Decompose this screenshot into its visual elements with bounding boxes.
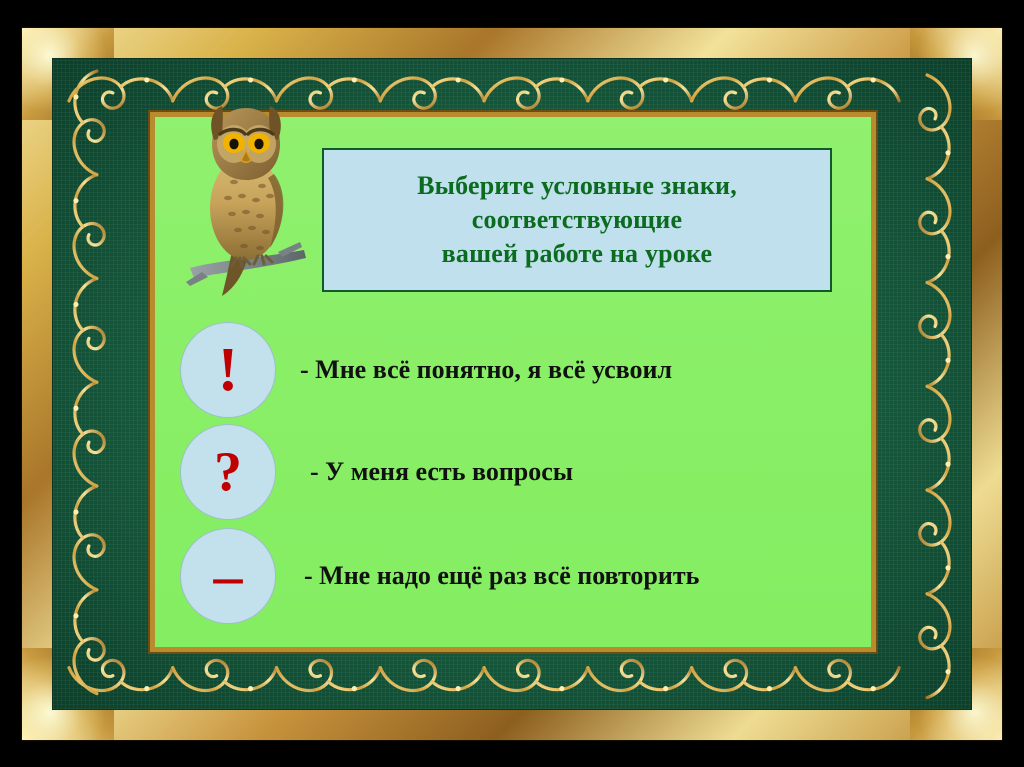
- owl-illustration: [182, 100, 312, 305]
- title-line-2: соответствующие: [417, 203, 737, 237]
- legend-item-minus[interactable]: – - Мне надо ещё раз всё повторить: [180, 528, 880, 624]
- exclamation-mark-icon[interactable]: !: [180, 322, 276, 418]
- legend-item-exclamation[interactable]: ! - Мне всё понятно, я всё усвоил: [180, 322, 880, 418]
- exclamation-mark-glyph: !: [218, 339, 239, 401]
- title-line-1: Выберите условные знаки,: [417, 169, 737, 203]
- legend-text-exclamation: - Мне всё понятно, я всё усвоил: [300, 355, 672, 385]
- question-mark-icon[interactable]: ?: [180, 424, 276, 520]
- legend-item-question[interactable]: ? - У меня есть вопросы: [180, 424, 880, 520]
- slide-canvas: Выберите условные знаки, соответствующие…: [0, 0, 1024, 767]
- legend-text-question: - У меня есть вопросы: [310, 457, 573, 487]
- title-line-3: вашей работе на уроке: [417, 237, 737, 271]
- instruction-title-box: Выберите условные знаки, соответствующие…: [322, 148, 832, 292]
- instruction-title-text: Выберите условные знаки, соответствующие…: [417, 169, 737, 270]
- minus-sign-glyph: –: [214, 547, 243, 605]
- owl-icon: [182, 100, 312, 305]
- legend-text-minus: - Мне надо ещё раз всё повторить: [304, 561, 699, 591]
- minus-sign-icon[interactable]: –: [180, 528, 276, 624]
- question-mark-glyph: ?: [214, 444, 242, 500]
